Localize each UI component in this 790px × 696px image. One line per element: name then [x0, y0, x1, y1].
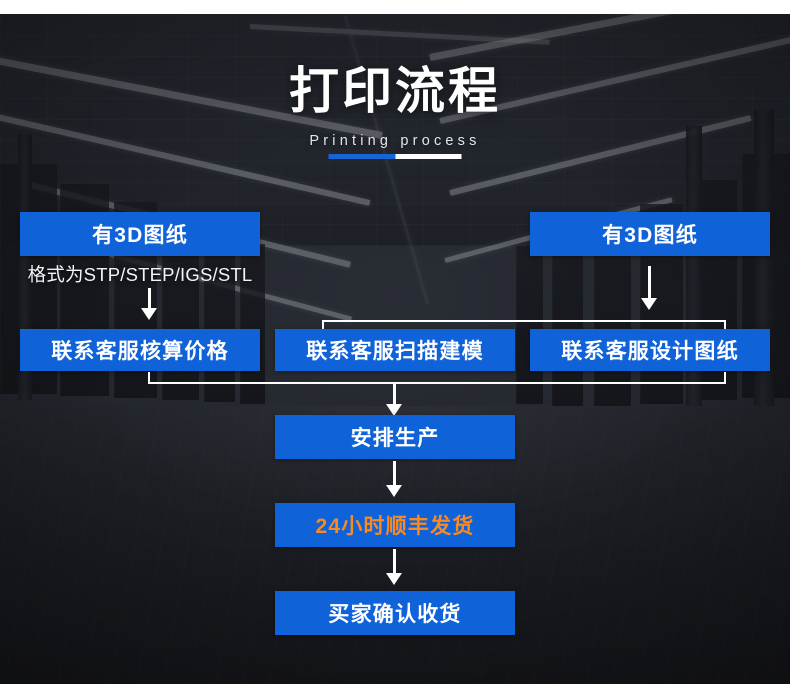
arrow-down-icon — [141, 308, 157, 320]
flow-box-label: 安排生产 — [351, 422, 440, 452]
connector-line-right — [648, 266, 651, 300]
flow-box-sf-express-24h[interactable]: 24小时顺丰发货 — [275, 503, 515, 547]
arrow-down-icon — [386, 573, 402, 585]
connector-line-to-confirm — [393, 549, 396, 575]
flow-box-has-3d-drawing-right[interactable]: 有3D图纸 — [530, 212, 770, 256]
flow-box-label: 联系客服设计图纸 — [561, 335, 739, 365]
bracket-bottom-join — [148, 372, 726, 384]
flow-box-has-3d-drawing-left[interactable]: 有3D图纸 — [20, 212, 260, 256]
connector-line-to-shipping — [393, 461, 396, 487]
format-note: 格式为STP/STEP/IGS/STL — [20, 261, 260, 287]
flow-box-label: 联系客服扫描建模 — [306, 335, 484, 365]
flow-box-label: 买家确认收货 — [328, 598, 461, 628]
flow-box-label: 24小时顺丰发货 — [316, 510, 475, 540]
flow-box-contact-service-scan-model[interactable]: 联系客服扫描建模 — [275, 329, 515, 371]
connector-line-to-production — [393, 382, 396, 406]
connector-line-left — [148, 288, 151, 310]
flow-box-arrange-production[interactable]: 安排生产 — [275, 415, 515, 459]
flow-box-contact-service-design-drawing[interactable]: 联系客服设计图纸 — [530, 329, 770, 371]
flow-box-buyer-confirm-receipt[interactable]: 买家确认收货 — [275, 591, 515, 635]
printing-process-banner: 打印流程 Printing process 有3D图纸 有3D图纸 格式为STP… — [0, 0, 790, 696]
arrow-down-icon — [386, 485, 402, 497]
flow-box-label: 有3D图纸 — [92, 219, 188, 249]
arrow-down-icon — [641, 298, 657, 310]
flow-box-label: 有3D图纸 — [602, 219, 698, 249]
flow-box-label: 联系客服核算价格 — [51, 335, 229, 365]
flow-chart: 有3D图纸 有3D图纸 格式为STP/STEP/IGS/STL 联系客服核算价格… — [0, 0, 790, 696]
flow-box-contact-service-quote[interactable]: 联系客服核算价格 — [20, 329, 260, 371]
